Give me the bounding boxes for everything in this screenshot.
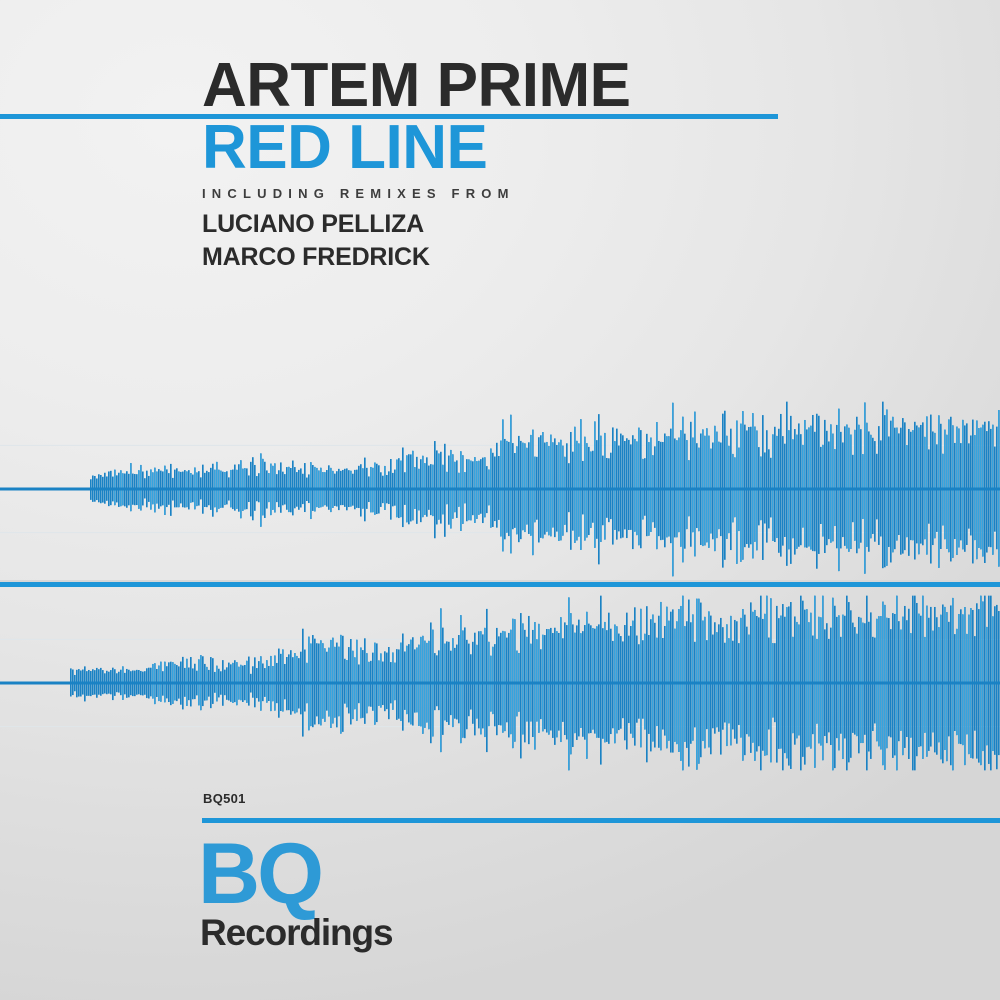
label-logo-mark: BQ xyxy=(198,838,393,910)
album-cover: ARTEM PRIME RED LINE INCLUDING REMIXES F… xyxy=(0,0,1000,1000)
label-logo-word: Recordings xyxy=(200,914,393,951)
bottom-accent-rule xyxy=(202,818,1000,823)
waveform-top xyxy=(0,398,1000,580)
remix-intro-label: INCLUDING REMIXES FROM xyxy=(202,186,515,201)
title-block: ARTEM PRIME RED LINE xyxy=(202,56,942,177)
remixer-name-1: LUCIANO PELLIZA xyxy=(202,210,515,239)
remix-credits: INCLUDING REMIXES FROM LUCIANO PELLIZA M… xyxy=(202,186,515,276)
release-title: RED LINE xyxy=(202,118,942,178)
waveform-divider-rule xyxy=(0,580,1000,587)
remixer-name-2: MARCO FREDRICK xyxy=(202,243,515,272)
waveform-bottom xyxy=(0,592,1000,774)
artist-name: ARTEM PRIME xyxy=(202,56,942,116)
catalog-number: BQ501 xyxy=(203,791,246,806)
label-logo: BQ Recordings xyxy=(198,838,393,951)
